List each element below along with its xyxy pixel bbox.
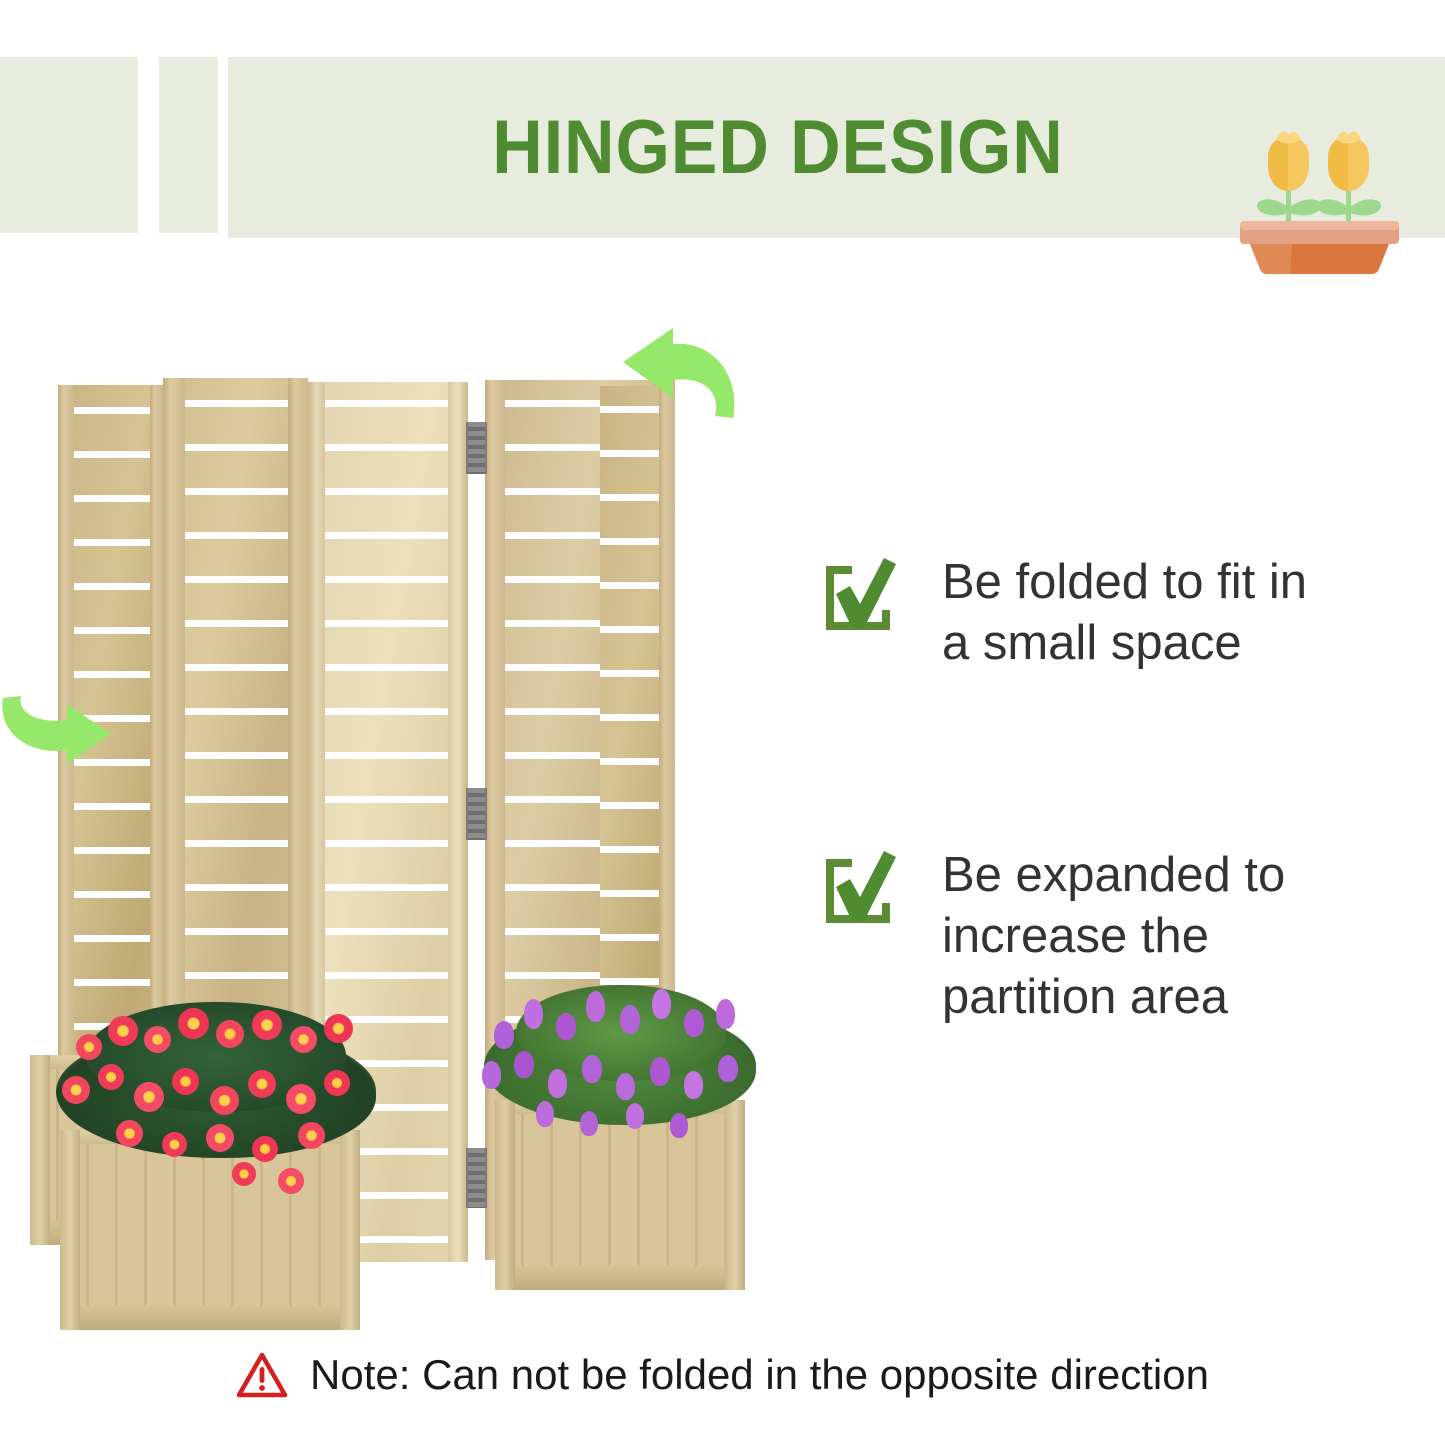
header-banner: HINGED DESIGN bbox=[0, 57, 1445, 238]
page-title: HINGED DESIGN bbox=[272, 57, 1284, 238]
fold-direction-arrow-right bbox=[0, 660, 130, 770]
pink-flower-foliage bbox=[46, 990, 386, 1180]
header-accent-block-2 bbox=[159, 57, 218, 233]
product-photo bbox=[0, 300, 800, 1300]
fold-direction-arrow-left bbox=[595, 310, 745, 425]
note-text: Note: Can not be folded in the opposite … bbox=[310, 1351, 1209, 1399]
header-accent-block-1 bbox=[0, 57, 138, 233]
checkbox-check-icon bbox=[818, 558, 898, 638]
warning-triangle-icon bbox=[236, 1351, 288, 1399]
purple-flower-foliage bbox=[470, 965, 770, 1145]
hinge-lower bbox=[466, 788, 487, 840]
feature-text-2: Be expanded to increase the partition ar… bbox=[942, 845, 1285, 1027]
flower-planter-icon bbox=[1232, 119, 1407, 274]
feature-item-2: Be expanded to increase the partition ar… bbox=[818, 845, 1418, 1027]
note-row: Note: Can not be folded in the opposite … bbox=[0, 1340, 1445, 1410]
checkbox-check-icon bbox=[818, 851, 898, 931]
feature-item-1: Be folded to fit in a small space bbox=[818, 552, 1418, 674]
hinge-bottom bbox=[466, 1148, 487, 1208]
feature-text-1: Be folded to fit in a small space bbox=[942, 552, 1307, 674]
hinge-upper bbox=[466, 422, 487, 474]
